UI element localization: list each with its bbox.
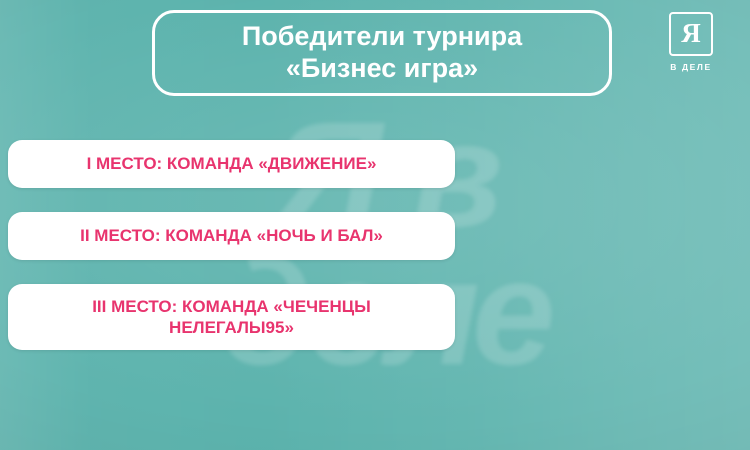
logo-mark-icon: Я: [669, 12, 713, 56]
winner-place-third: III МЕСТО: КОМАНДА «ЧЕЧЕНЦЫ НЕЛЕГАЛЫ95»: [76, 296, 387, 339]
slide-canvas: Я в деле Я В ДЕЛЕ Победители турнира «Би…: [0, 0, 750, 450]
winners-list: I МЕСТО: КОМАНДА «ДВИЖЕНИЕ» II МЕСТО: КО…: [0, 140, 750, 374]
winner-place-first: I МЕСТО: КОМАНДА «ДВИЖЕНИЕ»: [71, 153, 393, 174]
logo-letter: Я: [671, 20, 711, 47]
title-card: Победители турнира «Бизнес игра»: [152, 10, 612, 96]
list-item: I МЕСТО: КОМАНДА «ДВИЖЕНИЕ»: [8, 140, 455, 188]
winner-place-second: II МЕСТО: КОМАНДА «НОЧЬ И БАЛ»: [64, 225, 399, 246]
list-item: III МЕСТО: КОМАНДА «ЧЕЧЕНЦЫ НЕЛЕГАЛЫ95»: [8, 284, 455, 350]
logo-tagline: В ДЕЛЕ: [654, 62, 728, 72]
page-title: Победители турнира «Бизнес игра»: [228, 21, 536, 85]
brand-logo: Я В ДЕЛЕ: [654, 12, 728, 72]
list-item: II МЕСТО: КОМАНДА «НОЧЬ И БАЛ»: [8, 212, 455, 260]
